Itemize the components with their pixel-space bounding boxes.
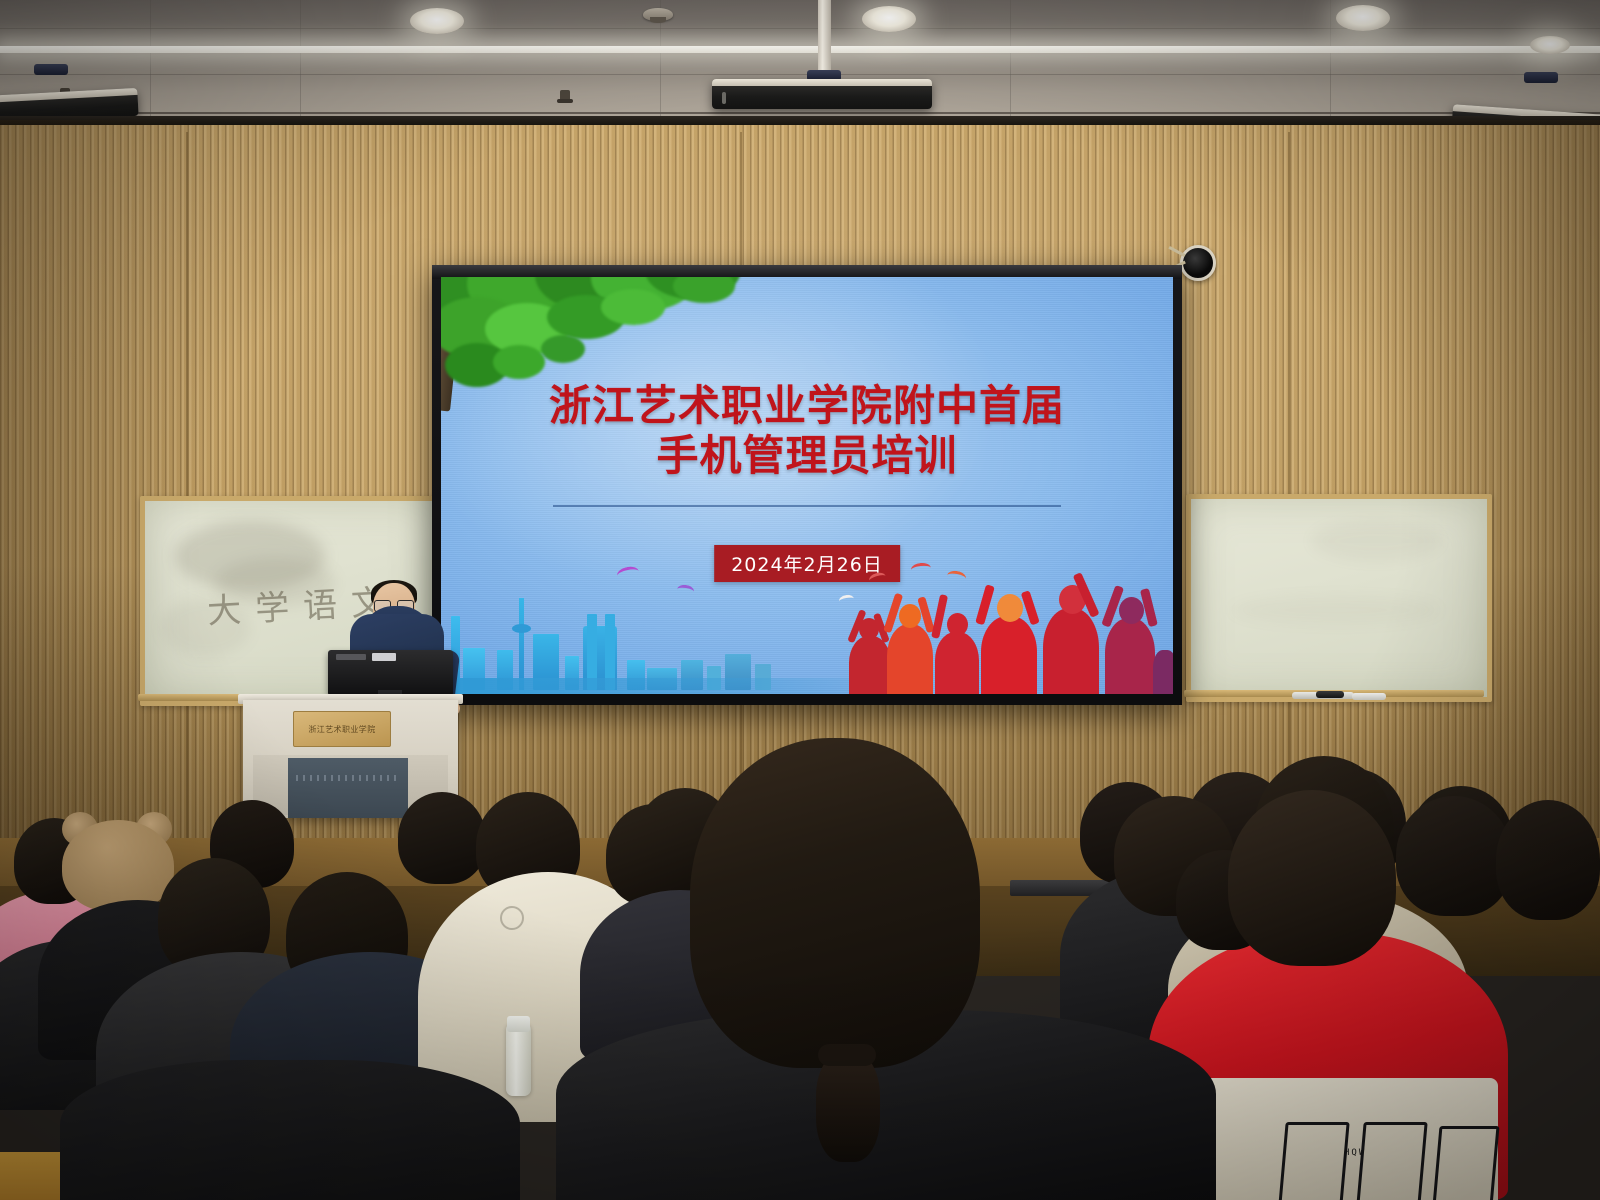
puffer-logo-icon (500, 906, 524, 930)
audience-head (1496, 800, 1600, 920)
ponytail (816, 1052, 880, 1162)
ceiling-bar-speaker (712, 79, 932, 109)
bear-ear-hat (62, 820, 174, 912)
lecture-hall-photo: 大学语文 (0, 0, 1600, 1200)
slide-title-line2: 手机管理员培训 (441, 433, 1173, 479)
sprinkler-head-icon (560, 90, 570, 102)
audience-head (1396, 796, 1512, 916)
whiteboard-marker[interactable] (1316, 691, 1344, 698)
podium-panel-detail (296, 775, 400, 781)
right-light-head (1524, 72, 1558, 83)
ceiling-downlight (862, 6, 916, 32)
monitor-brand-logo (336, 654, 366, 660)
projector-mount-pole (818, 0, 831, 72)
presentation-screen[interactable]: 浙江艺术职业学院附中首届 手机管理员培训 2024年2月26日 (432, 265, 1182, 705)
hair-tie (818, 1044, 876, 1066)
audience-head (1228, 790, 1396, 966)
ceiling-downlight (410, 8, 464, 34)
whiteboard-marker[interactable] (1352, 693, 1386, 700)
left-light-head (34, 64, 68, 75)
slide-surface: 浙江艺术职业学院附中首届 手机管理员培训 2024年2月26日 (441, 277, 1173, 694)
whiteboard-right (1186, 494, 1492, 702)
jacket-graphic (1278, 1122, 1349, 1200)
water-bottle-cap (507, 1016, 530, 1032)
podium-plaque: 浙江艺术职业学院 (293, 711, 391, 747)
jacket-back-text: HQW (1344, 1148, 1366, 1158)
slide-title-line1: 浙江艺术职业学院附中首届 (441, 383, 1173, 429)
audience-foreground-head (690, 738, 980, 1068)
ceiling-led-strip (0, 46, 1600, 53)
right-light-pole (1534, 0, 1545, 74)
audience-head (398, 792, 486, 884)
podium-front-panel (288, 758, 408, 818)
podium-plaque-text: 浙江艺术职业学院 (308, 724, 375, 735)
slide-divider (553, 505, 1061, 507)
jacket-graphic (1356, 1122, 1427, 1200)
monitor-label (372, 653, 396, 661)
water-bottle[interactable] (506, 1024, 531, 1096)
smoke-detector-icon (643, 8, 673, 21)
jacket-graphic (1433, 1126, 1500, 1200)
audience-foreground-jacket (60, 1060, 520, 1200)
bird-icon (910, 562, 931, 576)
slide-crowd-silhouette (843, 576, 1173, 694)
left-light-pole (44, 0, 55, 66)
ceiling-downlight (1336, 5, 1390, 31)
